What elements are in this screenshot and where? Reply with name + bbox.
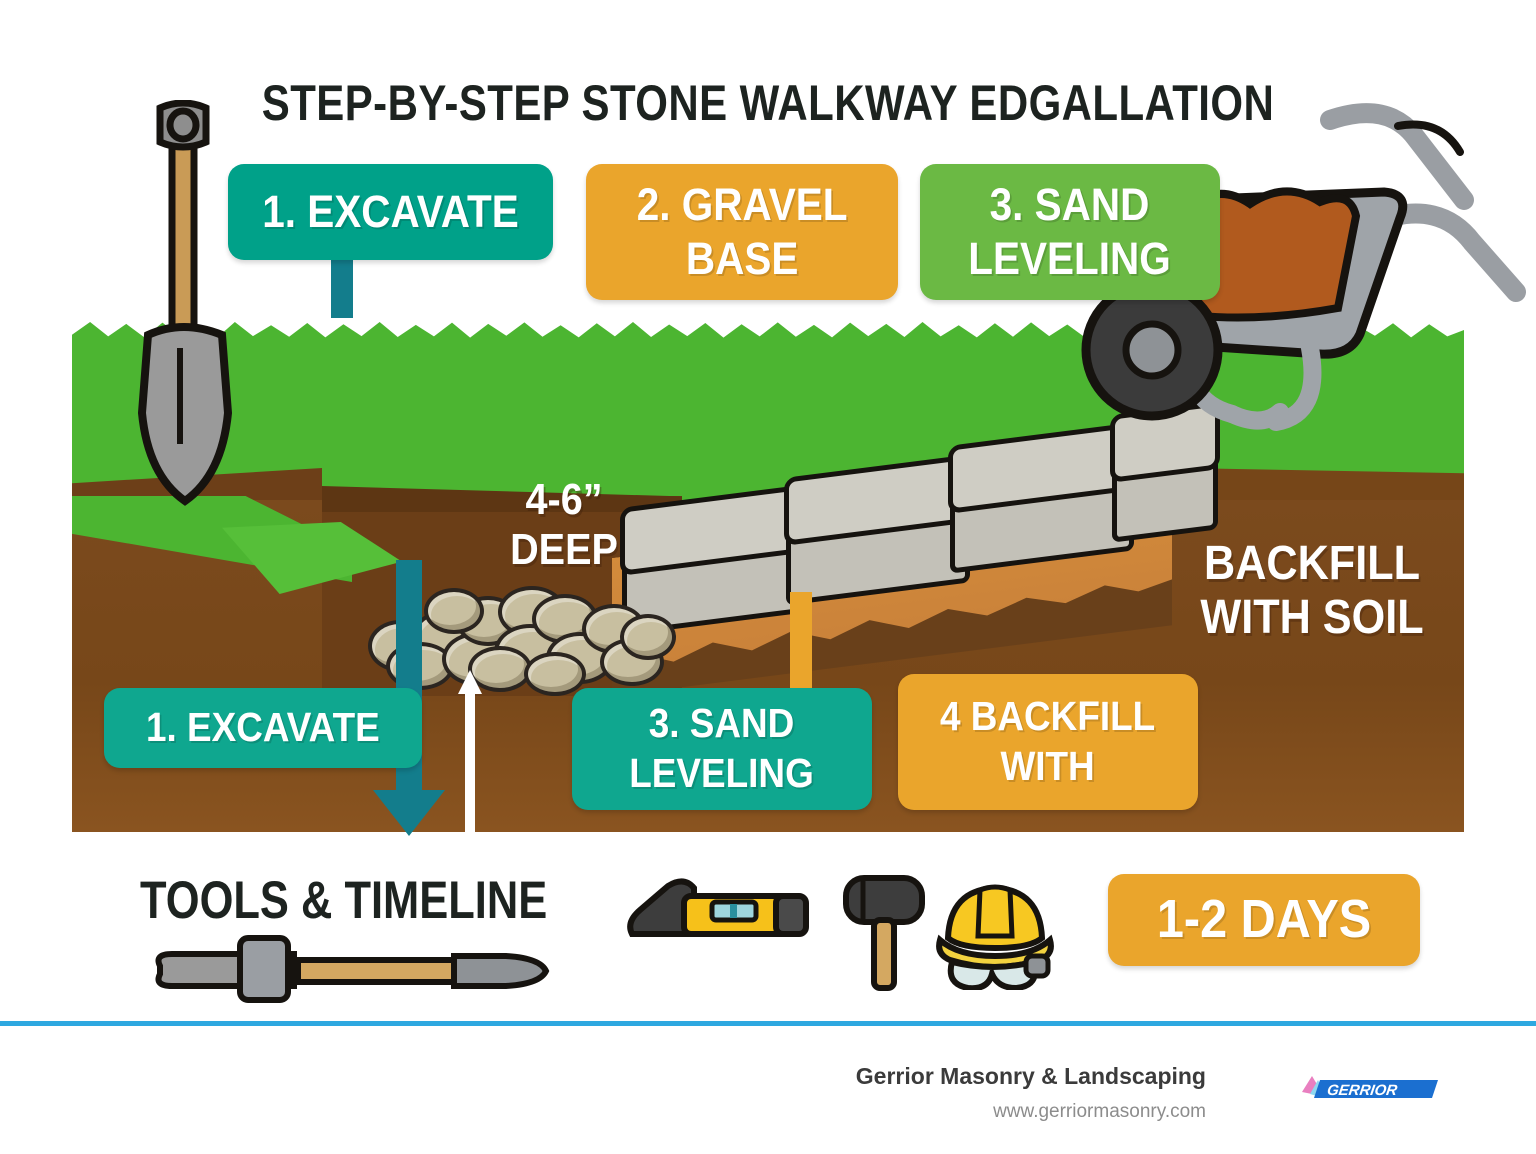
tools-timeline-section: TOOLS & TIMELINE 1-2 DAYS <box>0 862 1536 1012</box>
backfill-line-2: WITH SOIL <box>1177 594 1447 642</box>
depth-line-2: DEEP <box>483 528 645 572</box>
sign-bottom-excavate[interactable]: 1. EXCAVATE <box>104 688 422 768</box>
sign-label: 1. EXCAVATE <box>146 707 380 749</box>
sign-label-line2: BASE <box>637 236 848 282</box>
footer-divider <box>0 1021 1536 1026</box>
backfill-annotation: BACKFILL WITH SOIL <box>1162 540 1462 642</box>
brand-logo: GERRIOR <box>1296 1070 1451 1104</box>
sign-label-line2: LEVELING <box>630 753 815 795</box>
sign-label-line1: 3. SAND <box>969 182 1172 228</box>
sign-label-line1: 4 BACKFILL <box>940 696 1155 738</box>
brand-website-url: www.gerriormasonry.com <box>993 1101 1206 1123</box>
sign-label-line2: LEVELING <box>969 236 1172 282</box>
sign-label-line2: WITH <box>940 746 1155 788</box>
sign-top-gravel-base[interactable]: 2. GRAVEL BASE <box>586 164 898 300</box>
backfill-line-1: BACKFILL <box>1177 540 1447 588</box>
tools-heading: TOOLS & TIMELINE <box>140 870 547 931</box>
hard-hat-icon <box>930 870 1060 990</box>
excavate-sign-stem <box>331 258 353 318</box>
sign-bottom-sand-leveling[interactable]: 3. SAND LEVELING <box>572 688 872 810</box>
sign-label-line1: 2. GRAVEL <box>637 182 848 228</box>
depth-line-1: 4-6” <box>483 478 645 522</box>
shovel-icon <box>100 100 290 520</box>
timeline-label: 1-2 DAYS <box>1157 892 1371 947</box>
sign-bottom-backfill-with[interactable]: 4 BACKFILL WITH <box>898 674 1198 810</box>
excavate-down-arrow-head <box>373 790 445 836</box>
shovel-icon <box>148 934 588 1006</box>
mallet-icon <box>838 872 928 994</box>
brand-company-name: Gerrior Masonry & Landscaping <box>856 1063 1206 1090</box>
svg-text:GERRIOR: GERRIOR <box>1326 1082 1398 1099</box>
timeline-badge[interactable]: 1-2 DAYS <box>1108 874 1420 966</box>
sign-top-excavate[interactable]: 1. EXCAVATE <box>228 164 553 260</box>
sign-top-sand-leveling[interactable]: 3. SAND LEVELING <box>920 164 1220 300</box>
depth-annotation: 4-6” DEEP <box>474 478 654 572</box>
spirit-level-icon <box>624 876 814 946</box>
sign-label-line1: 3. SAND <box>630 703 815 745</box>
sign-label: 1. EXCAVATE <box>262 189 519 235</box>
